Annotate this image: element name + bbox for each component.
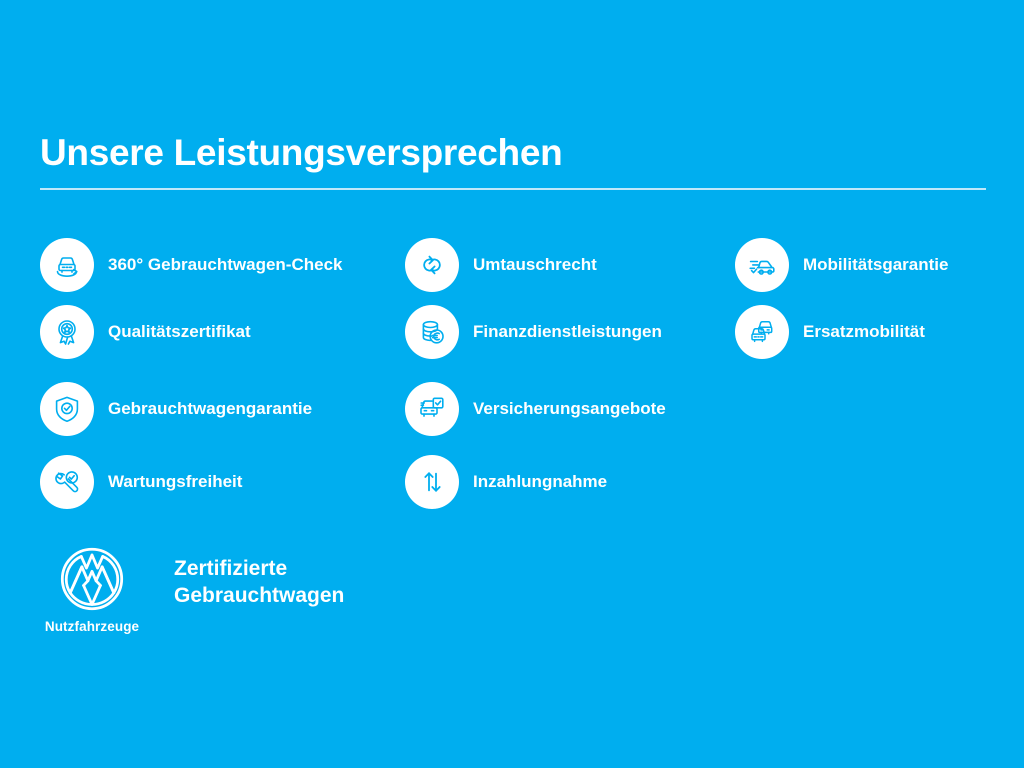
promise-label: Finanzdienstleistungen [473,322,662,342]
promise-item-replacement-mobility[interactable]: Ersatzmobilität [735,305,925,359]
promise-label: Ersatzmobilität [803,322,925,342]
promise-item-insurance-offers[interactable]: Versicherungsangebote [405,382,666,436]
promise-label: 360° Gebrauchtwagen-Check [108,255,343,275]
brand-claim: Zertifizierte Gebrauchtwagen [174,546,344,610]
coins-euro-icon [405,305,459,359]
shield-check-icon [40,382,94,436]
brand-sub-label: Nutzfahrzeuge [45,619,139,634]
page-header: Unsere Leistungsversprechen [40,133,986,190]
promise-item-maintenance-free[interactable]: Wartungsfreiheit [40,455,242,509]
promise-item-financial-services[interactable]: Finanzdienstleistungen [405,305,662,359]
brand-logo-wrap: Nutzfahrzeuge [36,546,148,634]
promise-label: Versicherungsangebote [473,399,666,419]
car-360-check-icon [40,238,94,292]
car-checkbox-icon [405,382,459,436]
title-divider [40,188,986,190]
arrows-up-down-icon [405,455,459,509]
promise-grid: 360° Gebrauchtwagen-Check Qualitätszerti… [40,238,990,528]
promise-item-used-car-warranty[interactable]: Gebrauchtwagengarantie [40,382,312,436]
wrench-check-icon [40,455,94,509]
promise-label: Gebrauchtwagengarantie [108,399,312,419]
promise-label: Qualitätszertifikat [108,322,251,342]
promise-label: Mobilitätsgarantie [803,255,948,275]
promise-label: Inzahlungnahme [473,472,607,492]
promise-label: Wartungsfreiheit [108,472,242,492]
volkswagen-logo-icon [59,546,125,612]
promise-item-mobility-guarantee[interactable]: Mobilitätsgarantie [735,238,948,292]
page-title: Unsere Leistungsversprechen [40,133,986,174]
promise-item-quality-certificate[interactable]: Qualitätszertifikat [40,305,251,359]
exchange-arrows-icon [405,238,459,292]
promise-item-360-check[interactable]: 360° Gebrauchtwagen-Check [40,238,343,292]
promise-item-right-of-exchange[interactable]: Umtauschrecht [405,238,597,292]
award-rosette-icon [40,305,94,359]
promise-label: Umtauschrecht [473,255,597,275]
brand-block: Nutzfahrzeuge Zertifizierte Gebrauchtwag… [36,546,344,634]
car-motion-check-icon [735,238,789,292]
two-cars-icon [735,305,789,359]
promise-item-trade-in[interactable]: Inzahlungnahme [405,455,607,509]
